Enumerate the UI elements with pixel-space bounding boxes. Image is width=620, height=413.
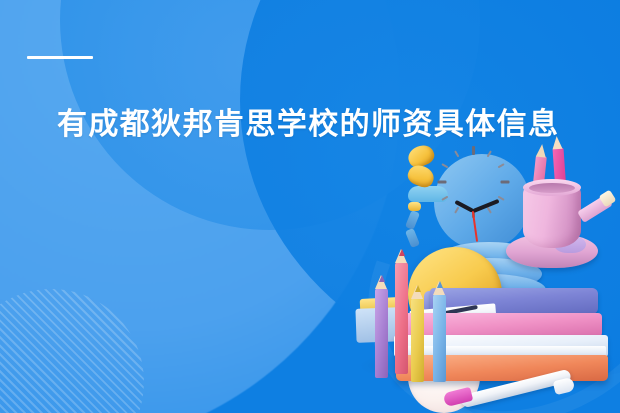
holder-pencil-pink-tip: [536, 144, 547, 158]
promo-banner: 有成都狄邦肯思学校的师资具体信息: [0, 0, 620, 413]
pencil-purple: [375, 288, 388, 378]
pencil-pink: [395, 262, 408, 374]
pencil-blue-nib: [437, 281, 443, 288]
accent-rule: [27, 56, 93, 59]
clock-tick: [500, 181, 509, 184]
white-pen-cap: [553, 377, 576, 395]
pencil-purple-nib: [379, 275, 385, 282]
alarm-clock-knob: [408, 202, 421, 211]
clock-tick: [454, 207, 459, 214]
clock-tick: [487, 207, 492, 214]
clock-tick: [454, 150, 459, 157]
alarm-clock-foot-left: [405, 210, 420, 230]
pencil-blue: [433, 294, 446, 382]
background-blob-light: [0, 0, 400, 413]
pink-book: [402, 313, 602, 337]
clock-second-hand: [472, 211, 478, 242]
clock-minute-hand: [472, 199, 499, 213]
pencil-yellow-nib: [415, 285, 421, 292]
striped-circle-decoration: [0, 289, 144, 413]
orange-book: [396, 355, 608, 381]
pencil-pink-nib: [399, 249, 405, 256]
alarm-clock-foot-right: [405, 228, 420, 248]
clock-tick: [498, 163, 505, 168]
study-supplies-illustration: [348, 150, 620, 413]
page-title: 有成都狄邦肯思学校的师资具体信息: [57, 108, 577, 142]
clock-tick: [472, 146, 475, 155]
clock-tick: [441, 163, 448, 168]
pencil-holder-opening: [529, 183, 575, 193]
clock-tick: [487, 150, 492, 157]
clock-tick: [437, 181, 446, 184]
pencil-yellow: [411, 298, 424, 382]
holder-pencil-magenta-tip: [552, 136, 563, 150]
